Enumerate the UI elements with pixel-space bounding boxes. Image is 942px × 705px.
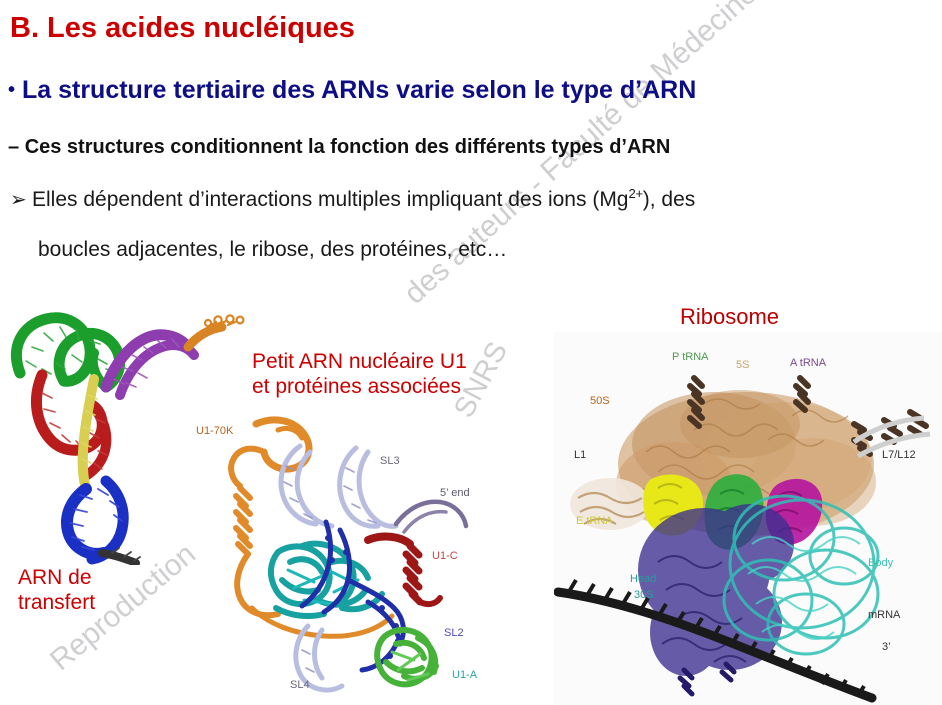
u1-label-u1-70k: U1-70K (196, 425, 234, 437)
ribosome-label-body: Body (868, 557, 894, 569)
ribosome-label-l7-l12: L7/L12 (882, 449, 916, 461)
u1-label-5-end: 5’ end (440, 487, 470, 499)
u1-label-sl2: SL2 (444, 627, 464, 639)
u1-label-sl4: SL4 (290, 679, 310, 691)
ribosome-illustration: P tRNA 5S A tRNA 50S L1 L7/L12 E tRNA Bo… (554, 332, 942, 705)
u1-label-u1-a: U1-A (452, 669, 478, 681)
arrowbullet-item-interactions: ➢Elles dépendent d’interactions multiple… (10, 186, 695, 212)
ribosome-label-3-prime: 3’ (882, 641, 891, 653)
figure-label-ribosome: Ribosome (680, 304, 779, 330)
ribosome-label-head: Head (630, 573, 656, 585)
magnesium-charge-superscript: 2+ (629, 186, 643, 201)
u1-label-sl3: SL3 (380, 455, 400, 467)
u1-snrnp-illustration: U1-70K SL3 5’ end U1-C SL2 U1-A SL4 (182, 412, 498, 700)
arrowbullet-item-continuation: boucles adjacentes, le ribose, des proté… (38, 238, 507, 262)
arrow-bullet-icon: ➢ (10, 187, 32, 212)
bullet-item-label: La structure tertiaire des ARNs varie se… (22, 76, 696, 104)
page-title: B. Les acides nucléiques (10, 12, 355, 45)
figure-label-transfer-rna: ARN de transfert (18, 566, 95, 616)
ribosome-label-e-trna: E tRNA (576, 515, 613, 527)
ribosome-label-5s: 5S (736, 359, 749, 371)
ribosome-label-50s: 50S (590, 395, 610, 407)
subbullet-item-fonction: – Ces structures conditionnent la foncti… (8, 136, 670, 159)
slide-canvas: des auteurs - Faculté de Médecine - Repr… (0, 0, 942, 705)
u1-label-u1-c: U1-C (432, 550, 458, 562)
figure-ribosome: P tRNA 5S A tRNA 50S L1 L7/L12 E tRNA Bo… (554, 332, 942, 705)
ribosome-label-p-trna: P tRNA (672, 351, 709, 363)
figure-u1-snrnp: U1-70K SL3 5’ end U1-C SL2 U1-A SL4 (182, 412, 498, 700)
bullet-dot-icon: • (8, 79, 15, 101)
ribosome-label-a-trna: A tRNA (790, 357, 827, 369)
dash-marker-icon: – (8, 136, 19, 158)
ribosome-label-mrna: mRNA (868, 609, 901, 621)
ribosome-label-l1: L1 (574, 449, 586, 461)
arrowbullet-label-post: ), des (643, 188, 696, 211)
ribosome-label-30s: 30S (634, 589, 654, 601)
subbullet-item-label: Ces structures conditionnent la fonction… (25, 136, 671, 158)
figure-label-u1-snrnp: Petit ARN nucléaire U1 et protéines asso… (252, 350, 467, 400)
arrowbullet-label-pre: Elles dépendent d’interactions multiples… (32, 188, 629, 211)
bullet-item-structure-tertiaire: • La structure tertiaire des ARNs varie … (8, 76, 696, 105)
